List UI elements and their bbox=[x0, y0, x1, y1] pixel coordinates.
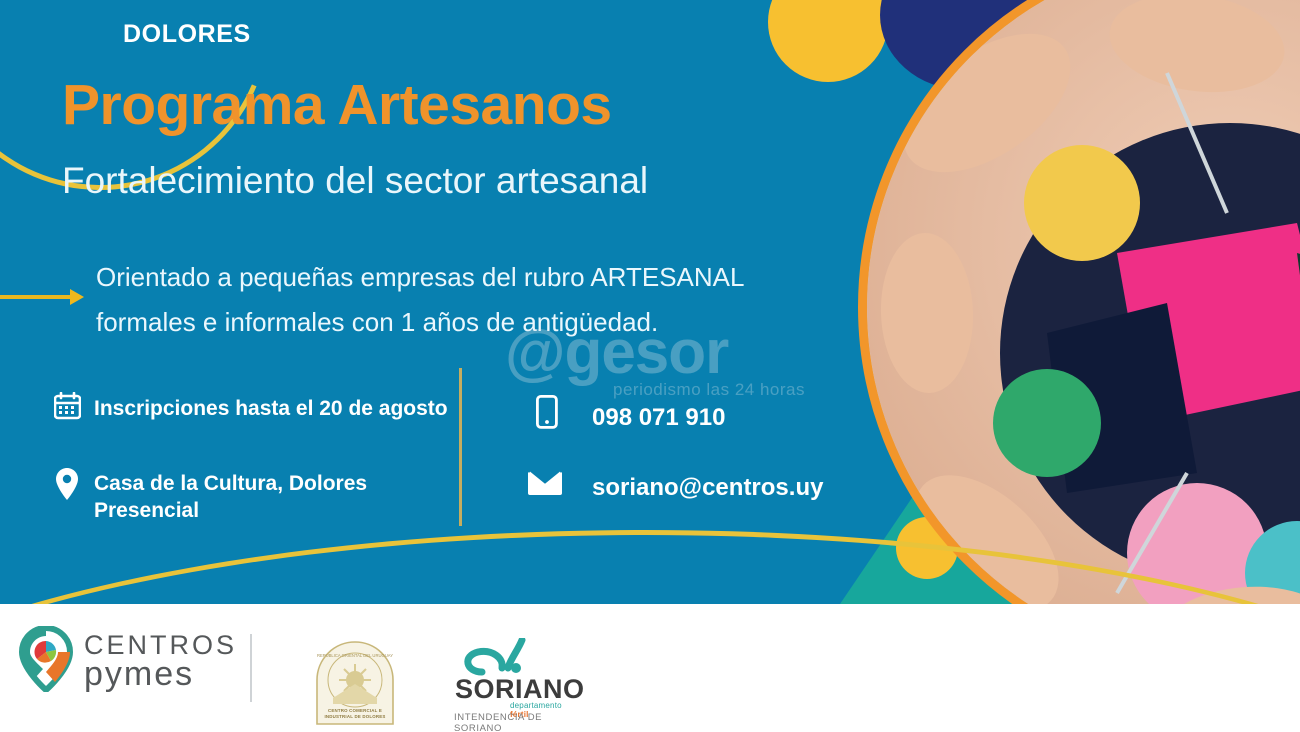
lead-line-1: Orientado a pequeñas empresas del rubro … bbox=[96, 255, 836, 300]
page-subtitle: Fortalecimiento del sector artesanal bbox=[62, 160, 648, 202]
location-line-1: Casa de la Cultura, Dolores bbox=[94, 470, 367, 497]
soriano-logo: SORIANO departamento fértil INTENDENCIA … bbox=[452, 638, 582, 724]
lead-paragraph: Orientado a pequeñas empresas del rubro … bbox=[96, 255, 836, 345]
location-line-2: Presencial bbox=[94, 497, 367, 524]
footer-logo-bar: CENTROS pymes bbox=[0, 604, 1300, 732]
artisans-photo-circle bbox=[858, 0, 1300, 604]
centros-pymes-wordmark: CENTROS pymes bbox=[84, 632, 237, 691]
poster-flyer: DOLORES Programa Artesanos Fortalecimien… bbox=[0, 0, 1300, 732]
contact-phone[interactable]: 098 071 910 bbox=[530, 395, 725, 432]
poster-background: DOLORES Programa Artesanos Fortalecimien… bbox=[0, 0, 1300, 604]
deadline-text: Inscripciones hasta el 20 de agosto bbox=[84, 392, 448, 422]
centro-comercial-seal-logo: REPUBLICA ORIENTAL DEL URUGUAY CENTRO CO… bbox=[313, 640, 397, 728]
seal-ring-text: REPUBLICA ORIENTAL DEL URUGUAY bbox=[317, 653, 393, 658]
calendar-icon bbox=[50, 392, 84, 420]
contact-deadline: Inscripciones hasta el 20 de agosto bbox=[50, 392, 448, 422]
artisans-photo bbox=[867, 0, 1300, 604]
location-pin-icon bbox=[50, 468, 84, 500]
mobile-phone-icon bbox=[530, 395, 564, 429]
page-title: Programa Artesanos bbox=[62, 72, 612, 138]
contact-column-divider bbox=[459, 368, 462, 526]
footer-divider bbox=[250, 634, 252, 702]
email-address[interactable]: soriano@centros.uy bbox=[562, 470, 823, 502]
yellow-arrow-icon bbox=[0, 289, 92, 305]
envelope-icon bbox=[528, 470, 562, 496]
location-text: Casa de la Cultura, Dolores Presencial bbox=[84, 468, 367, 524]
soriano-tagline-prefix: departamento bbox=[510, 701, 562, 710]
seal-caption-line-2: INDUSTRIAL DE DOLORES bbox=[313, 714, 397, 720]
location-pin-logo-icon bbox=[18, 626, 74, 697]
lead-line-2: formales e informales con 1 años de anti… bbox=[96, 300, 836, 345]
phone-number[interactable]: 098 071 910 bbox=[564, 395, 725, 432]
pymes-label: pymes bbox=[84, 657, 237, 691]
soriano-subtitle: INTENDENCIA DE SORIANO bbox=[454, 712, 582, 732]
city-kicker: DOLORES bbox=[123, 20, 251, 49]
seal-caption: CENTRO COMERCIAL E INDUSTRIAL DE DOLORES bbox=[313, 708, 397, 720]
contact-email[interactable]: soriano@centros.uy bbox=[528, 470, 823, 502]
contact-location: Casa de la Cultura, Dolores Presencial bbox=[50, 468, 367, 524]
centros-pymes-logo: CENTROS pymes bbox=[18, 626, 237, 697]
